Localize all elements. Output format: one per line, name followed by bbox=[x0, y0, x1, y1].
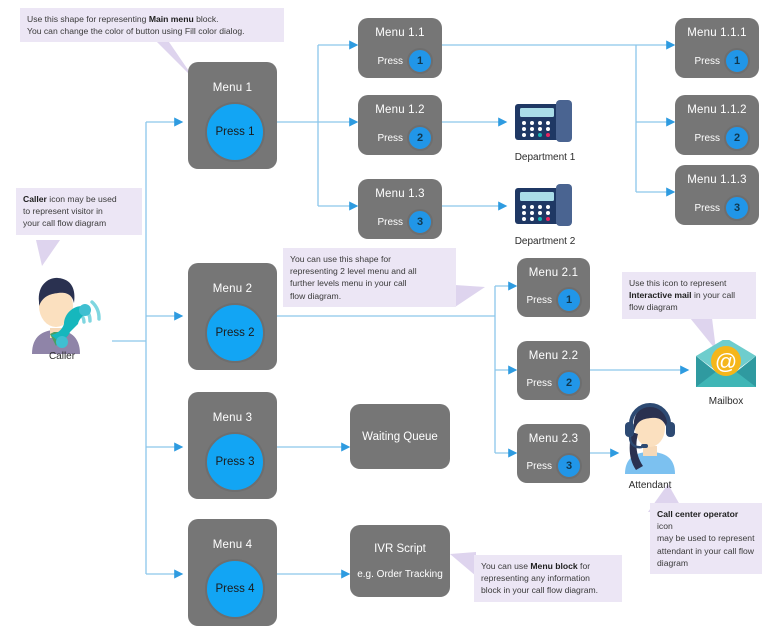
main-menu-block-2[interactable]: Menu 2 Press 2 bbox=[188, 263, 277, 370]
ivr-example-label: e.g. Order Tracking bbox=[357, 569, 443, 580]
callout-text: your call flow diagram bbox=[23, 217, 135, 229]
press-digit[interactable]: 1 bbox=[724, 48, 750, 74]
callout-operator: Call center operator icon may be used to… bbox=[650, 503, 762, 574]
submenu-block-1-2[interactable]: Menu 1.2 Press 2 bbox=[358, 95, 442, 155]
callout-text: representing any information bbox=[481, 572, 615, 584]
callout-mailbox: Use this icon to represent Interactive m… bbox=[622, 272, 756, 319]
press-row-1-1[interactable]: Press 1 bbox=[358, 48, 433, 74]
callout-caller: Caller icon may be used to represent vis… bbox=[16, 188, 142, 235]
callout-text: block. bbox=[194, 14, 219, 24]
ivr-script-box[interactable]: IVR Script e.g. Order Tracking bbox=[350, 525, 450, 597]
press-row-1-2[interactable]: Press 2 bbox=[358, 125, 433, 151]
menu-title: Menu 3 bbox=[188, 412, 277, 424]
callout-text: flow diagram bbox=[629, 301, 749, 313]
menu-title: Menu 1.1 bbox=[358, 27, 442, 39]
callout-main-menu: Use this shape for representing Main men… bbox=[20, 8, 284, 42]
main-menu-block-1[interactable]: Menu 1 Press 1 bbox=[188, 62, 277, 169]
department-1-icon-group[interactable]: Department 1 bbox=[505, 96, 585, 163]
callout-text: You can change the color of button using… bbox=[27, 25, 277, 37]
callout-text: further levels menu in your call bbox=[290, 277, 449, 289]
press-label: Press bbox=[377, 133, 403, 144]
svg-text:@: @ bbox=[715, 349, 737, 374]
callout-emphasis: Call center operator bbox=[657, 509, 738, 519]
callout-text: representing 2 level menu and all bbox=[290, 265, 449, 277]
press-button-3[interactable]: Press 3 bbox=[205, 432, 265, 492]
press-label: Press bbox=[526, 461, 552, 472]
press-row-1-1-2[interactable]: Press 2 bbox=[675, 125, 750, 151]
press-label: Press bbox=[377, 56, 403, 67]
press-button-2[interactable]: Press 2 bbox=[205, 303, 265, 363]
caller-icon-group[interactable]: Caller bbox=[10, 272, 114, 362]
callout-text: You can use this shape for bbox=[290, 253, 449, 265]
menu-title: Menu 2.3 bbox=[517, 433, 590, 445]
callout-text: in your call bbox=[692, 290, 735, 300]
caller-icon bbox=[10, 272, 114, 354]
menu-title: Menu 1.1.2 bbox=[675, 104, 759, 116]
press-label: Press bbox=[526, 295, 552, 306]
callout-text: icon bbox=[657, 521, 673, 531]
menu-title: Menu 2 bbox=[188, 283, 277, 295]
callout-text: flow diagram. bbox=[290, 290, 449, 302]
menu-title: Menu 2.2 bbox=[517, 350, 590, 362]
department-2-icon-group[interactable]: Department 2 bbox=[505, 180, 585, 247]
callout-text: diagram bbox=[657, 557, 755, 569]
mailbox-icon: @ bbox=[693, 340, 759, 390]
menu-title: Menu 1.2 bbox=[358, 104, 442, 116]
callout-text: attendant in your call flow bbox=[657, 545, 755, 557]
attendant-icon-group[interactable]: Attendant bbox=[612, 402, 688, 491]
callout-text: Use this icon to represent bbox=[629, 277, 749, 289]
menu-title: Menu 4 bbox=[188, 539, 277, 551]
callout-tail-caller bbox=[36, 240, 76, 272]
desk-phone-icon bbox=[511, 180, 579, 230]
call-center-operator-icon bbox=[615, 402, 685, 474]
press-digit[interactable]: 2 bbox=[407, 125, 433, 151]
submenu-block-1-1-2[interactable]: Menu 1.1.2 Press 2 bbox=[675, 95, 759, 155]
callout-menu-block: You can use Menu block for representing … bbox=[474, 555, 622, 602]
press-label: Press bbox=[694, 56, 720, 67]
menu-title: Menu 1.1.3 bbox=[675, 174, 759, 186]
press-digit[interactable]: 3 bbox=[724, 195, 750, 221]
callout-text: block in your call flow diagram. bbox=[481, 584, 615, 596]
desk-phone-icon bbox=[511, 96, 579, 146]
press-button-4[interactable]: Press 4 bbox=[205, 559, 265, 619]
menu-title: Menu 1 bbox=[188, 82, 277, 94]
press-label: Press bbox=[694, 133, 720, 144]
press-label: Press bbox=[694, 203, 720, 214]
department-2-label: Department 2 bbox=[505, 236, 585, 247]
press-row-1-1-1[interactable]: Press 1 bbox=[675, 48, 750, 74]
press-digit[interactable]: 3 bbox=[556, 453, 582, 479]
menu-title: Menu 1.1.1 bbox=[675, 27, 759, 39]
press-digit[interactable]: 1 bbox=[407, 48, 433, 74]
press-digit[interactable]: 2 bbox=[556, 370, 582, 396]
callout-text: may be used to represent bbox=[657, 532, 755, 544]
submenu-block-1-1[interactable]: Menu 1.1 Press 1 bbox=[358, 18, 442, 78]
department-1-label: Department 1 bbox=[505, 152, 585, 163]
waiting-queue-box[interactable]: Waiting Queue bbox=[350, 404, 450, 469]
press-digit[interactable]: 1 bbox=[556, 287, 582, 313]
waiting-queue-label: Waiting Queue bbox=[362, 431, 438, 443]
submenu-block-2-3[interactable]: Menu 2.3 Press 3 bbox=[517, 424, 590, 483]
press-label: Press bbox=[526, 378, 552, 389]
call-flow-diagram-canvas: Use this shape for representing Main men… bbox=[0, 0, 768, 619]
callout-emphasis: Main menu bbox=[149, 14, 194, 24]
submenu-block-2-1[interactable]: Menu 2.1 Press 1 bbox=[517, 258, 590, 317]
ivr-title-label: IVR Script bbox=[374, 543, 426, 555]
press-row-2-1[interactable]: Press 1 bbox=[517, 287, 582, 313]
press-digit[interactable]: 2 bbox=[724, 125, 750, 151]
press-row-2-3[interactable]: Press 3 bbox=[517, 453, 582, 479]
callout-emphasis: Caller bbox=[23, 194, 47, 204]
submenu-block-1-1-1[interactable]: Menu 1.1.1 Press 1 bbox=[675, 18, 759, 78]
callout-text: icon may be used bbox=[47, 194, 117, 204]
press-row-1-1-3[interactable]: Press 3 bbox=[675, 195, 750, 221]
main-menu-block-3[interactable]: Menu 3 Press 3 bbox=[188, 392, 277, 499]
press-button-1[interactable]: Press 1 bbox=[205, 102, 265, 162]
callout-text: to represent visitor in bbox=[23, 205, 135, 217]
callout-text: You can use bbox=[481, 561, 530, 571]
callout-two-level-menu: You can use this shape for representing … bbox=[283, 248, 456, 307]
callout-emphasis: Interactive mail bbox=[629, 290, 692, 300]
menu-title: Menu 1.3 bbox=[358, 188, 442, 200]
press-row-2-2[interactable]: Press 2 bbox=[517, 370, 582, 396]
press-label: Press bbox=[377, 217, 403, 228]
callout-text: for bbox=[578, 561, 590, 571]
main-menu-block-4[interactable]: Menu 4 Press 4 bbox=[188, 519, 277, 626]
mailbox-icon-group[interactable]: @ Mailbox bbox=[690, 340, 762, 407]
submenu-block-2-2[interactable]: Menu 2.2 Press 2 bbox=[517, 341, 590, 400]
press-digit[interactable]: 3 bbox=[407, 209, 433, 235]
press-row-1-3[interactable]: Press 3 bbox=[358, 209, 433, 235]
attendant-label: Attendant bbox=[612, 480, 688, 491]
callout-text: Use this shape for representing bbox=[27, 14, 149, 24]
menu-title: Menu 2.1 bbox=[517, 267, 590, 279]
submenu-block-1-1-3[interactable]: Menu 1.1.3 Press 3 bbox=[675, 165, 759, 225]
callout-emphasis: Menu block bbox=[530, 561, 577, 571]
submenu-block-1-3[interactable]: Menu 1.3 Press 3 bbox=[358, 179, 442, 239]
callout-tail-two-level bbox=[455, 285, 495, 315]
mailbox-label: Mailbox bbox=[690, 396, 762, 407]
